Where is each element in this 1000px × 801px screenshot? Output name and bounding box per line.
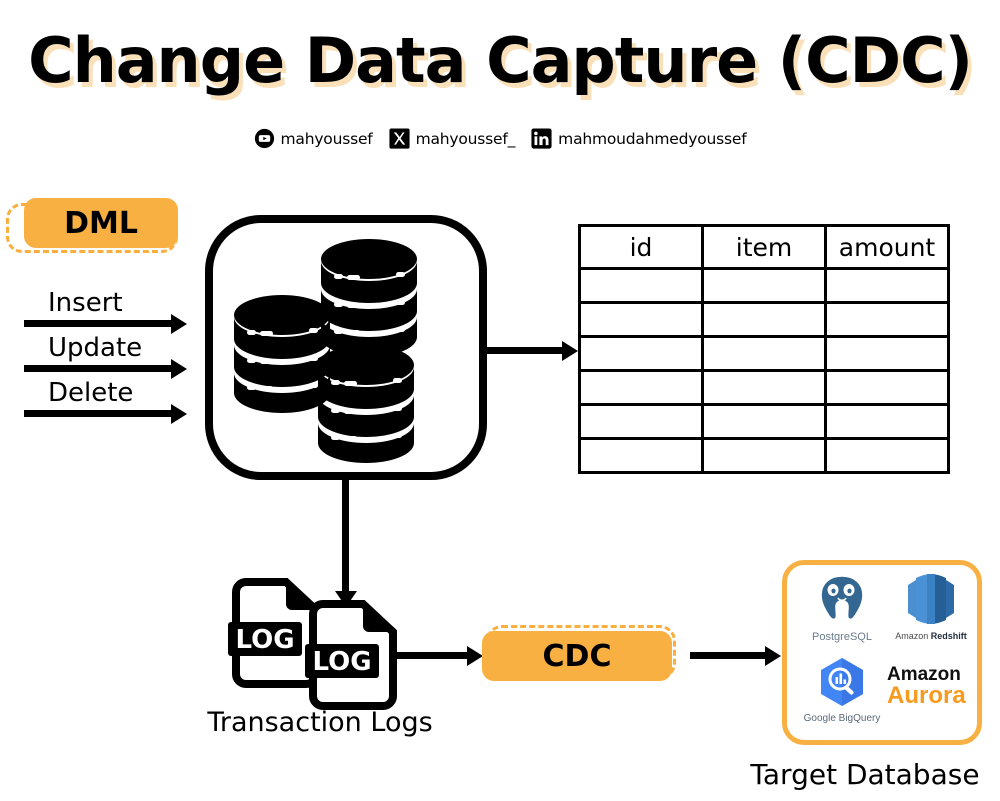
database-to-table-arrow	[487, 347, 563, 354]
table-cell	[703, 303, 826, 337]
dml-badge-label: DML	[24, 198, 178, 248]
social-item-youtube[interactable]: mahyoussef	[254, 128, 373, 149]
amazon-redshift-caption: Amazon Redshift	[895, 631, 967, 641]
table-row	[580, 269, 949, 303]
postgresql-caption: PostgreSQL	[812, 631, 872, 643]
logo-amazon-redshift: Amazon Redshift	[885, 573, 977, 641]
table-row	[580, 337, 949, 371]
logo-amazon-aurora: Amazon Aurora	[887, 665, 979, 708]
target-database-container: PostgreSQL Amazon Redshift	[782, 560, 982, 745]
amazon-redshift-logo	[904, 573, 958, 629]
database-to-logs-arrow	[342, 480, 349, 592]
table-cell	[703, 405, 826, 439]
postgresql-logo	[815, 573, 869, 629]
table-header-row: id item amount	[580, 226, 949, 269]
dml-badge[interactable]: DML	[6, 203, 178, 253]
insert-arrow	[24, 320, 172, 327]
table-cell	[703, 269, 826, 303]
table-row	[580, 371, 949, 405]
operation-label-insert: Insert	[48, 288, 123, 318]
transaction-logs-label: Transaction Logs	[195, 707, 445, 738]
source-database-container	[205, 215, 487, 480]
social-handle-x: mahyoussef_	[416, 130, 516, 148]
table-cell	[826, 303, 949, 337]
svg-text:LOG: LOG	[312, 647, 371, 677]
table-row	[580, 303, 949, 337]
table-cell	[580, 405, 703, 439]
page-title: Change Data Capture (CDC)	[0, 24, 1000, 97]
google-bigquery-logo	[816, 657, 868, 711]
social-handles-row: mahyoussef mahyoussef_ mahmoudahmedyouss…	[0, 128, 1000, 149]
logs-to-cdc-arrow	[390, 652, 468, 659]
youtube-icon	[254, 128, 275, 149]
social-handle-youtube: mahyoussef	[281, 130, 373, 148]
table-cell	[580, 269, 703, 303]
target-database-label: Target Database	[730, 758, 1000, 791]
table-cell	[826, 405, 949, 439]
table-cell	[703, 371, 826, 405]
x-twitter-icon	[389, 128, 410, 149]
table-cell	[826, 371, 949, 405]
operation-label-update: Update	[48, 333, 142, 363]
operation-label-delete: Delete	[48, 378, 133, 408]
logo-google-bigquery: Google BigQuery	[793, 657, 891, 724]
google-bigquery-caption: Google BigQuery	[804, 713, 881, 724]
transaction-log-file-icon: LOG	[305, 600, 401, 714]
aurora-line-aurora: Aurora	[887, 684, 966, 708]
table-row	[580, 439, 949, 473]
table-column-header-id: id	[580, 226, 703, 269]
table-column-header-amount: amount	[826, 226, 949, 269]
linkedin-icon	[531, 128, 552, 149]
table-cell	[580, 371, 703, 405]
amazon-aurora-wordmark: Amazon Aurora	[887, 665, 966, 708]
table-cell	[703, 337, 826, 371]
cdc-to-target-arrow	[690, 652, 766, 659]
redshift-caption-bold: Redshift	[931, 631, 967, 641]
table-cell	[826, 269, 949, 303]
table-cell	[826, 337, 949, 371]
cdc-badge-label: CDC	[482, 631, 672, 681]
table-cell	[580, 337, 703, 371]
table-row	[580, 405, 949, 439]
social-item-x[interactable]: mahyoussef_	[389, 128, 516, 149]
svg-text:LOG: LOG	[235, 625, 294, 655]
delete-arrow	[24, 410, 172, 417]
records-table: id item amount	[578, 224, 950, 474]
table-column-header-item: item	[703, 226, 826, 269]
table-cell	[703, 439, 826, 473]
update-arrow	[24, 365, 172, 372]
social-item-linkedin[interactable]: mahmoudahmedyoussef	[531, 128, 746, 149]
logo-postgresql: PostgreSQL	[797, 573, 887, 643]
social-handle-linkedin: mahmoudahmedyoussef	[558, 130, 746, 148]
cdc-badge[interactable]: CDC	[486, 625, 676, 679]
database-stack-icon	[315, 343, 417, 469]
table-cell	[580, 303, 703, 337]
redshift-caption-light: Amazon	[895, 631, 931, 641]
table-cell	[826, 439, 949, 473]
table-cell	[580, 439, 703, 473]
